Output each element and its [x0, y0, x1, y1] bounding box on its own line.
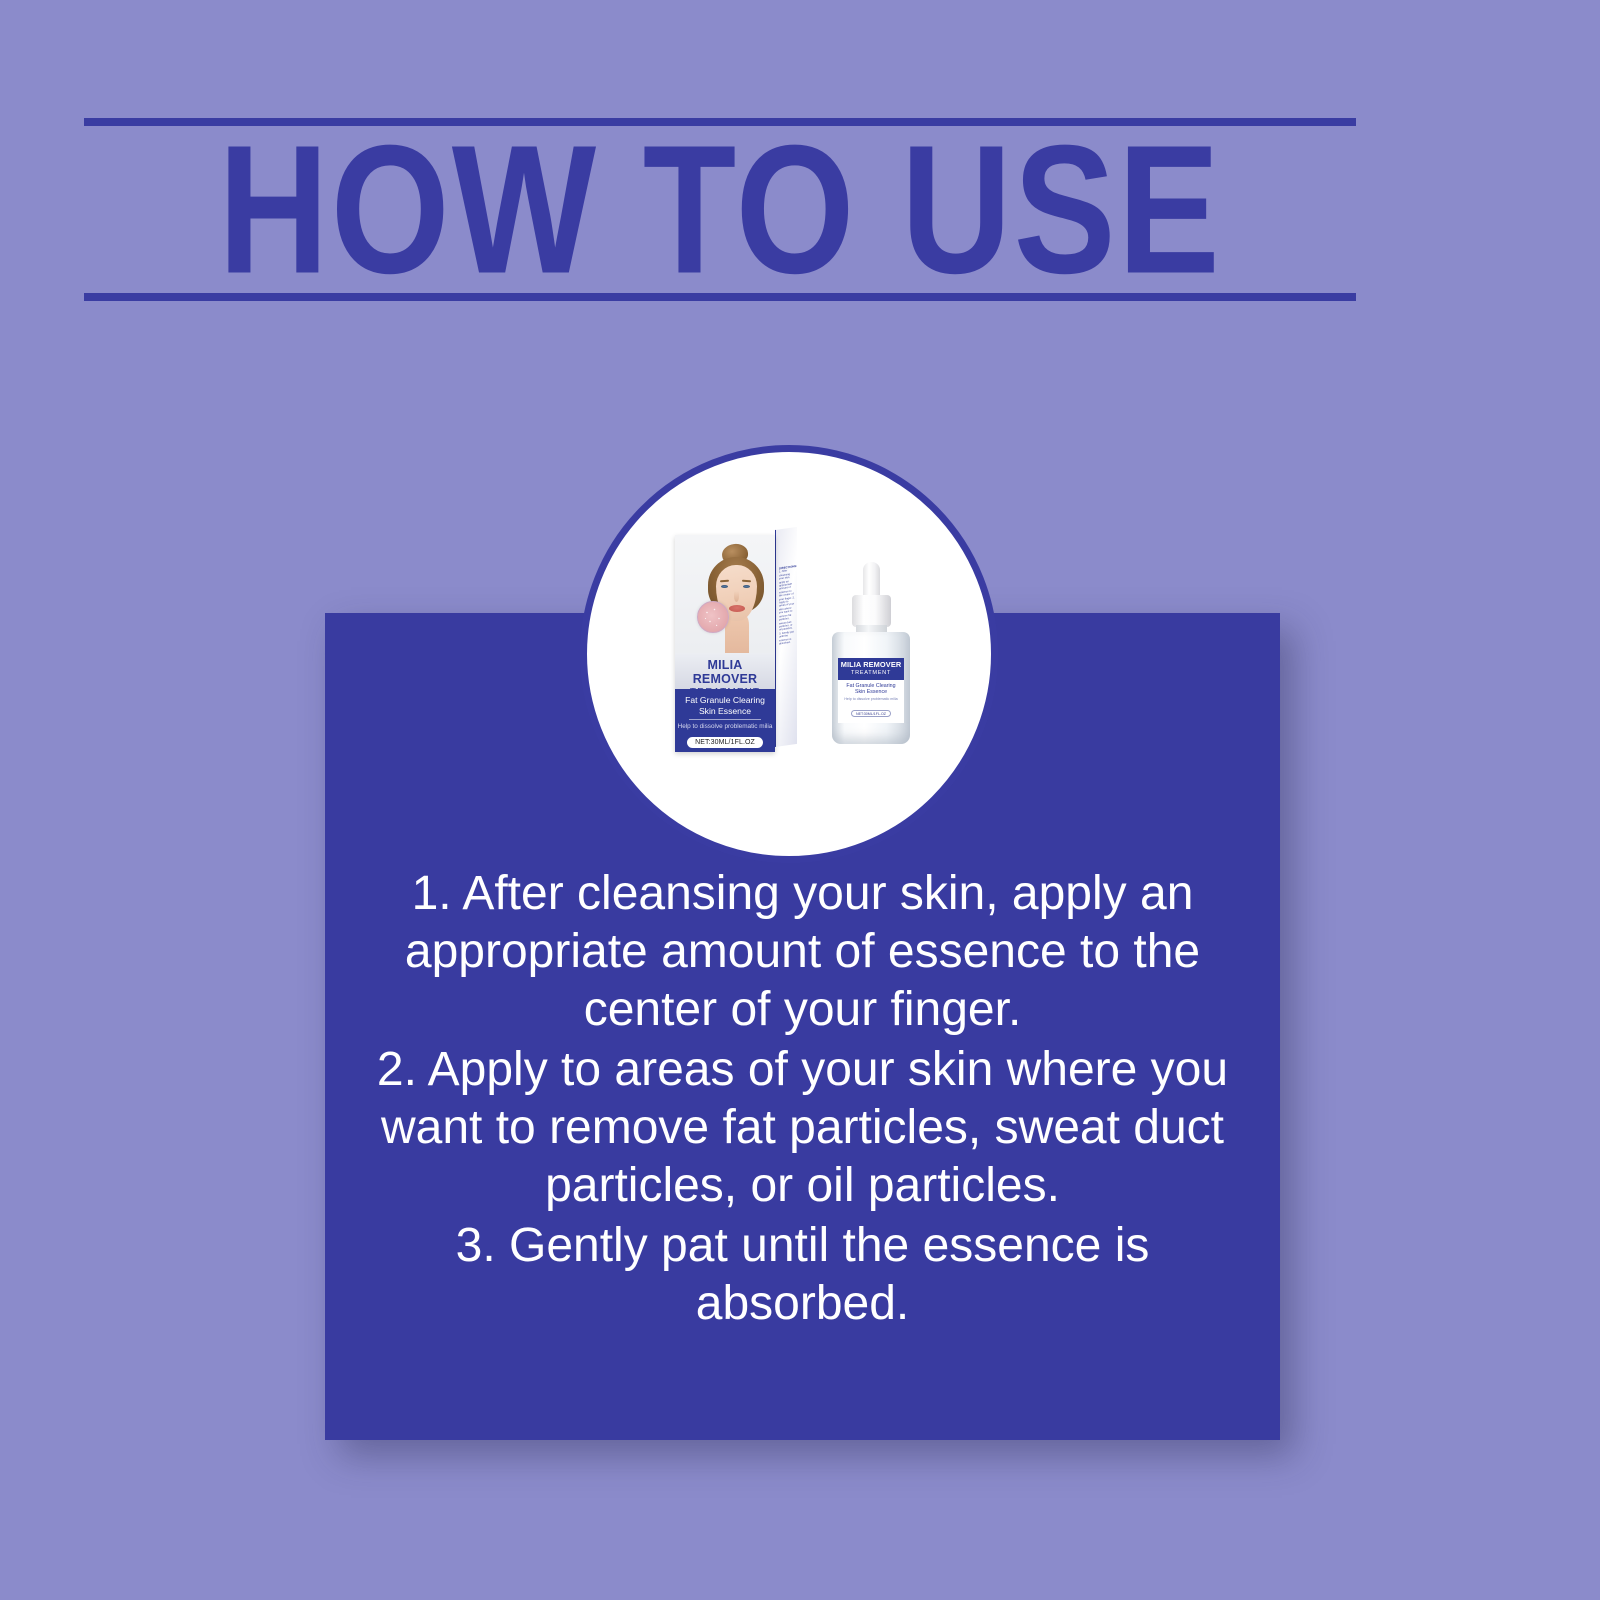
instruction-list: 1. After cleansing your skin, apply an a…: [375, 865, 1230, 1335]
carton-title-band: MILIA REMOVER TREATMENT: [675, 653, 775, 689]
carton-description-band: Fat Granule Clearing Skin Essence Help t…: [675, 689, 775, 752]
carton-divider: [689, 719, 761, 720]
bottle-label-band: MILIA REMOVER TREATMENT: [838, 658, 904, 680]
header-bottom-rule: [84, 293, 1356, 301]
carton-side-panel: DIRECTIONS: 1. After cleansing your skin…: [775, 527, 797, 747]
product-image-circle: DIRECTIONS: 1. After cleansing your skin…: [580, 445, 998, 863]
carton-net-weight: NET:30ML/1FL.OZ: [687, 737, 763, 748]
carton-front-panel: MILIA REMOVER TREATMENT Fat Granule Clea…: [675, 535, 775, 752]
bottle-cap: [852, 595, 891, 627]
model-lips: [729, 605, 745, 612]
bottle-body: MILIA REMOVER TREATMENT Fat Granule Clea…: [832, 632, 910, 744]
model-nose: [734, 591, 739, 602]
carton-model-photo: [675, 535, 775, 653]
bottle-product-subtitle: TREATMENT: [838, 670, 904, 678]
carton-description-line1: Fat Granule Clearing: [675, 689, 775, 706]
bottle-net-weight: NET:30ML/1FL.OZ: [851, 710, 891, 717]
product-bottle: MILIA REMOVER TREATMENT Fat Granule Clea…: [830, 562, 912, 752]
carton-tagline: Help to dissolve problematic milia: [675, 722, 775, 731]
carton-directions-text: DIRECTIONS: 1. After cleansing your skin…: [779, 565, 795, 646]
instruction-step: 1. After cleansing your skin, apply an a…: [375, 865, 1230, 1039]
instruction-step: 3. Gently pat until the essence is absor…: [375, 1217, 1230, 1333]
bottle-label: MILIA REMOVER TREATMENT Fat Granule Clea…: [838, 658, 904, 723]
product-carton: DIRECTIONS: 1. After cleansing your skin…: [675, 530, 797, 752]
bottle-description-line1: Fat Granule Clearing: [838, 680, 904, 689]
instruction-step: 2. Apply to areas of your skin where you…: [375, 1041, 1230, 1215]
bottle-tagline: Help to dissolve problematic milia: [838, 696, 904, 702]
carton-product-title: MILIA REMOVER: [675, 653, 775, 686]
carton-directions-body: 1. After cleansing your skin, apply an a…: [779, 570, 795, 646]
milia-magnifier-inset: [697, 601, 729, 633]
bottle-product-title: MILIA REMOVER: [838, 661, 904, 670]
product-photo: DIRECTIONS: 1. After cleansing your skin…: [587, 452, 991, 856]
page-title: HOW TO USE: [71, 96, 1368, 323]
header: HOW TO USE: [84, 110, 1356, 305]
carton-description-line2: Skin Essence: [675, 706, 775, 717]
